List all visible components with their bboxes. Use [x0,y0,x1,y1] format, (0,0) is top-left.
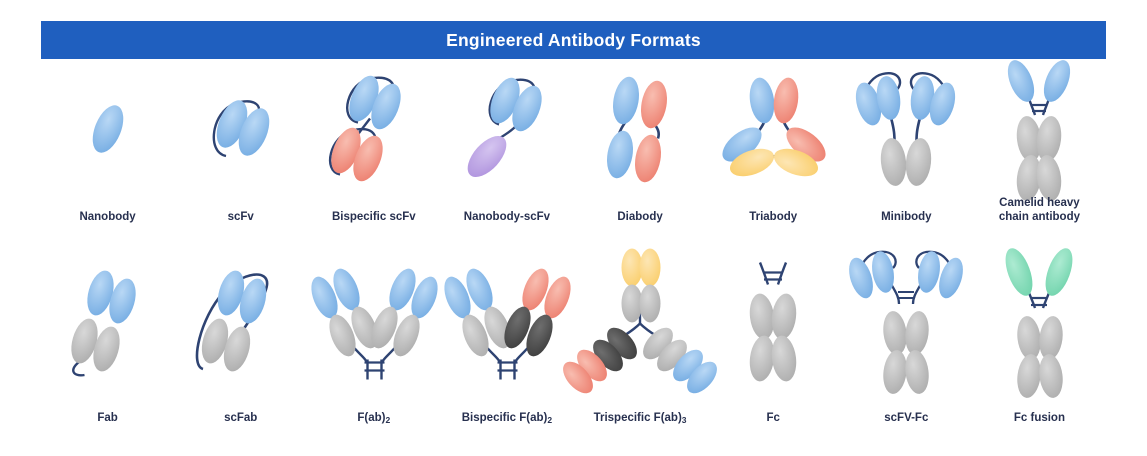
domain-top-vh-gold [622,249,643,287]
panel-nanobody-scfv: Nanobody-scFv [440,70,573,230]
figure-header-bar: Engineered Antibody Formats [41,21,1106,59]
caption-camelid-heavy-chain-antibody: Camelid heavy chain antibody [973,196,1106,224]
domain-ch2-right [769,292,798,341]
hinge-right [917,116,921,142]
bispecific-fab2-diagram [440,255,573,389]
panel-bispecific-fab2: Bispecific F(ab)2 [440,255,573,435]
panel-triabody: Triabody [707,70,840,230]
fc-diagram [707,255,840,389]
antibody-row-1: Nanobody scFv [41,70,1106,230]
domain-top-cl-lightgray [640,285,661,323]
domain-bottom-left-blue [604,129,637,181]
caption-triabody: Triabody [707,210,840,224]
domain-top-left-blue [610,75,643,127]
fab2-diagram [307,255,440,389]
fab-diagram [41,255,174,389]
domain-ch2-right [1037,315,1065,361]
domain-ch3-right [1037,353,1065,399]
panel-fc-fusion: Fc fusion [973,255,1106,435]
domain-ch3-left [879,137,909,187]
triabody-diagram [707,70,840,188]
domain-ch3-right [904,137,934,187]
domain-fusion-partner-right [1041,245,1079,300]
panel-fab2: F(ab)2 [307,255,440,435]
caption-scfab: scFab [174,411,307,425]
scfab-diagram [174,255,307,389]
domain-vhh-right [1039,56,1076,105]
domain-nanobody-vhh [461,129,514,184]
panel-fab: Fab [41,255,174,435]
domain-bottom-right-salmon [632,133,665,185]
scfv-fc-diagram [840,255,973,389]
panel-camelid-heavy-chain-antibody: Camelid heavy chain antibody [973,70,1106,230]
nanobody-diagram [41,70,174,188]
caption-bispecific-fab2: Bispecific F(ab)2 [440,411,573,425]
domain-ch2-left [1015,315,1043,361]
domain-top-salmon [771,76,801,125]
bispecific-scfv-diagram [307,70,440,188]
antibody-row-2: Fab scFab [41,255,1106,435]
panel-minibody: Minibody [840,70,973,230]
trispecific-fab3-diagram [574,255,707,389]
engineered-antibody-formats-figure: Engineered Antibody Formats [0,0,1147,456]
domain-top-blue [747,76,777,125]
domain-vhh [86,101,129,157]
domain-top-vl-gold [640,249,661,287]
panel-scfab: scFab [174,255,307,435]
panel-scfv-fc: scFV-Fc [840,255,973,435]
caption-scfv-fc: scFV-Fc [840,411,973,425]
caption-fc: Fc [707,411,840,425]
caption-scfv: scFv [174,210,307,224]
domain-top-ch1-lightgray [622,285,643,323]
caption-fab2: F(ab)2 [307,411,440,425]
minibody-diagram [840,70,973,188]
panel-fc: Fc [707,255,840,435]
caption-minibody: Minibody [840,210,973,224]
panel-bispecific-scfv: Bispecific scFv [307,70,440,230]
caption-nanobody-scfv: Nanobody-scFv [440,210,573,224]
domain-ch2-right [903,310,931,356]
panel-trispecific-fab3: Trispecific F(ab)3 [574,255,707,435]
page-title: Engineered Antibody Formats [446,30,701,51]
caption-bispecific-scfv: Bispecific scFv [307,210,440,224]
caption-diabody: Diabody [574,210,707,224]
panel-nanobody: Nanobody [41,70,174,230]
caption-nanobody: Nanobody [41,210,174,224]
caption-fc-fusion: Fc fusion [973,411,1106,425]
domain-ch3-right [769,334,798,383]
panel-scfv: scFv [174,70,307,230]
panel-diabody: Diabody [574,70,707,230]
domain-top-right-salmon [638,79,671,131]
nanobody-scfv-diagram [440,70,573,188]
domain-ch3-left [1015,353,1043,399]
fc-fusion-diagram [973,255,1106,389]
domain-ch3-left [881,349,909,395]
camelid-heavy-chain-antibody-diagram [973,70,1106,188]
domain-ch2-left [881,310,909,356]
caption-fab: Fab [41,411,174,425]
domain-vhh-left [1003,56,1040,105]
diabody-diagram [574,70,707,188]
domain-fusion-partner-left [1001,245,1039,300]
scfv-diagram [174,70,307,188]
domain-ch3-right [903,349,931,395]
hinge-left [891,116,895,142]
caption-trispecific-fab3: Trispecific F(ab)3 [574,411,707,425]
